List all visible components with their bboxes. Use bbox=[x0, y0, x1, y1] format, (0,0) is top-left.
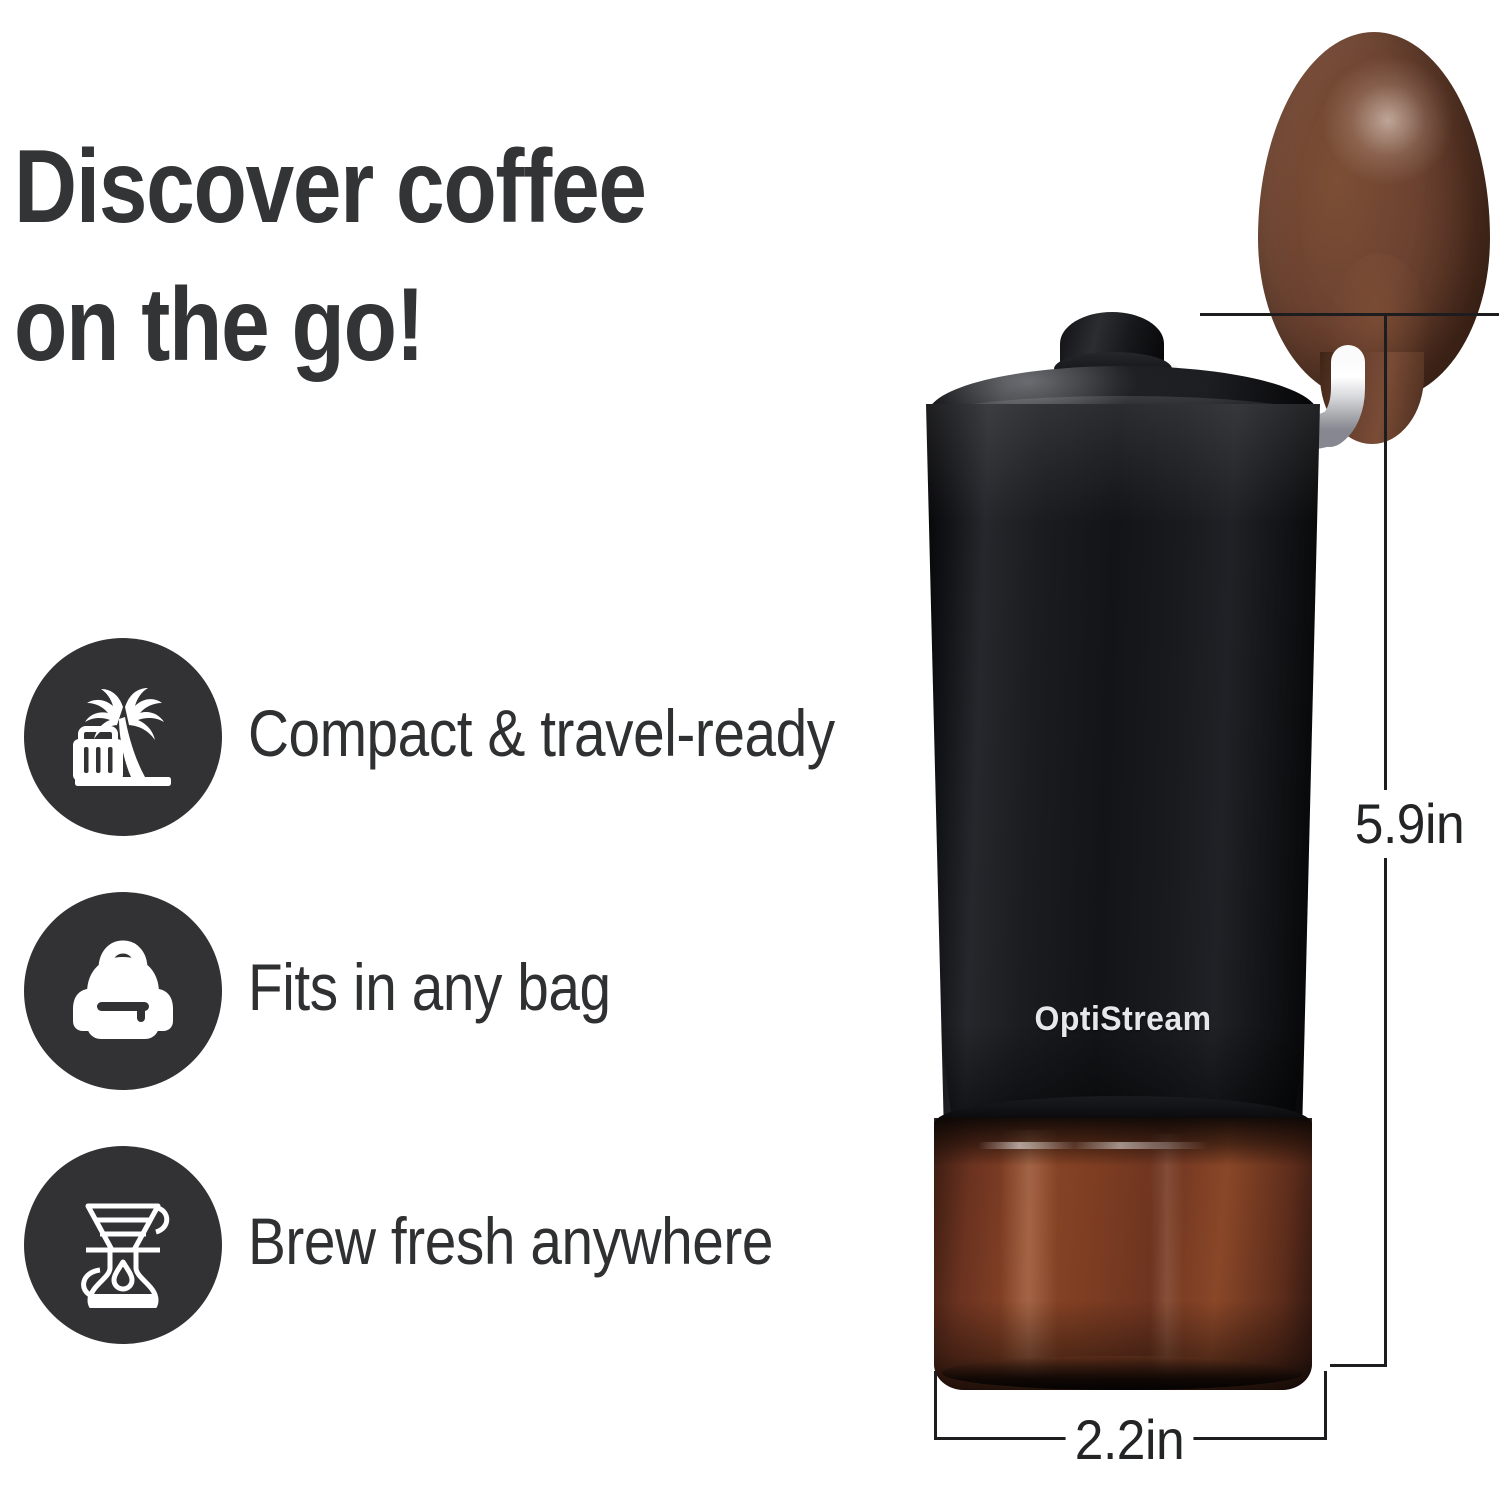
feature-label: Compact & travel-ready bbox=[248, 700, 835, 766]
backpack-icon bbox=[61, 929, 185, 1053]
palm-tree-suitcase-icon bbox=[59, 673, 187, 801]
brand-logo: OptiStream bbox=[938, 1000, 1308, 1039]
feature-list: Compact & travel-ready bbox=[0, 638, 880, 1400]
height-dimension-label: 5.9in bbox=[1346, 790, 1474, 858]
page-headline: Discover coffee on the go! bbox=[14, 118, 720, 395]
feature-icon-badge bbox=[24, 638, 222, 836]
product-feature-image: Discover coffee on the go! bbox=[0, 0, 1499, 1499]
feature-icon-badge bbox=[24, 892, 222, 1090]
width-dimension-right-tick bbox=[1324, 1371, 1327, 1440]
feature-label: Brew fresh anywhere bbox=[248, 1208, 773, 1274]
product-image: OptiStream bbox=[850, 0, 1499, 1499]
list-item: Compact & travel-ready bbox=[0, 638, 880, 892]
feature-label: Fits in any bag bbox=[248, 954, 611, 1020]
list-item: Brew fresh anywhere bbox=[0, 1146, 880, 1400]
width-dimension-label: 2.2in bbox=[1066, 1406, 1194, 1474]
feature-icon-badge bbox=[24, 1146, 222, 1344]
height-dimension-top-extension bbox=[1200, 313, 1499, 316]
height-dimension-bottom-extension bbox=[1330, 1364, 1387, 1367]
catch-cup-rim-highlight bbox=[978, 1142, 1208, 1149]
width-dimension-left-tick bbox=[934, 1371, 937, 1440]
pour-over-carafe-icon bbox=[60, 1182, 186, 1308]
grinder-body-highlight bbox=[926, 404, 1320, 524]
list-item: Fits in any bag bbox=[0, 892, 880, 1146]
catch-cup-foot bbox=[942, 1356, 1304, 1390]
